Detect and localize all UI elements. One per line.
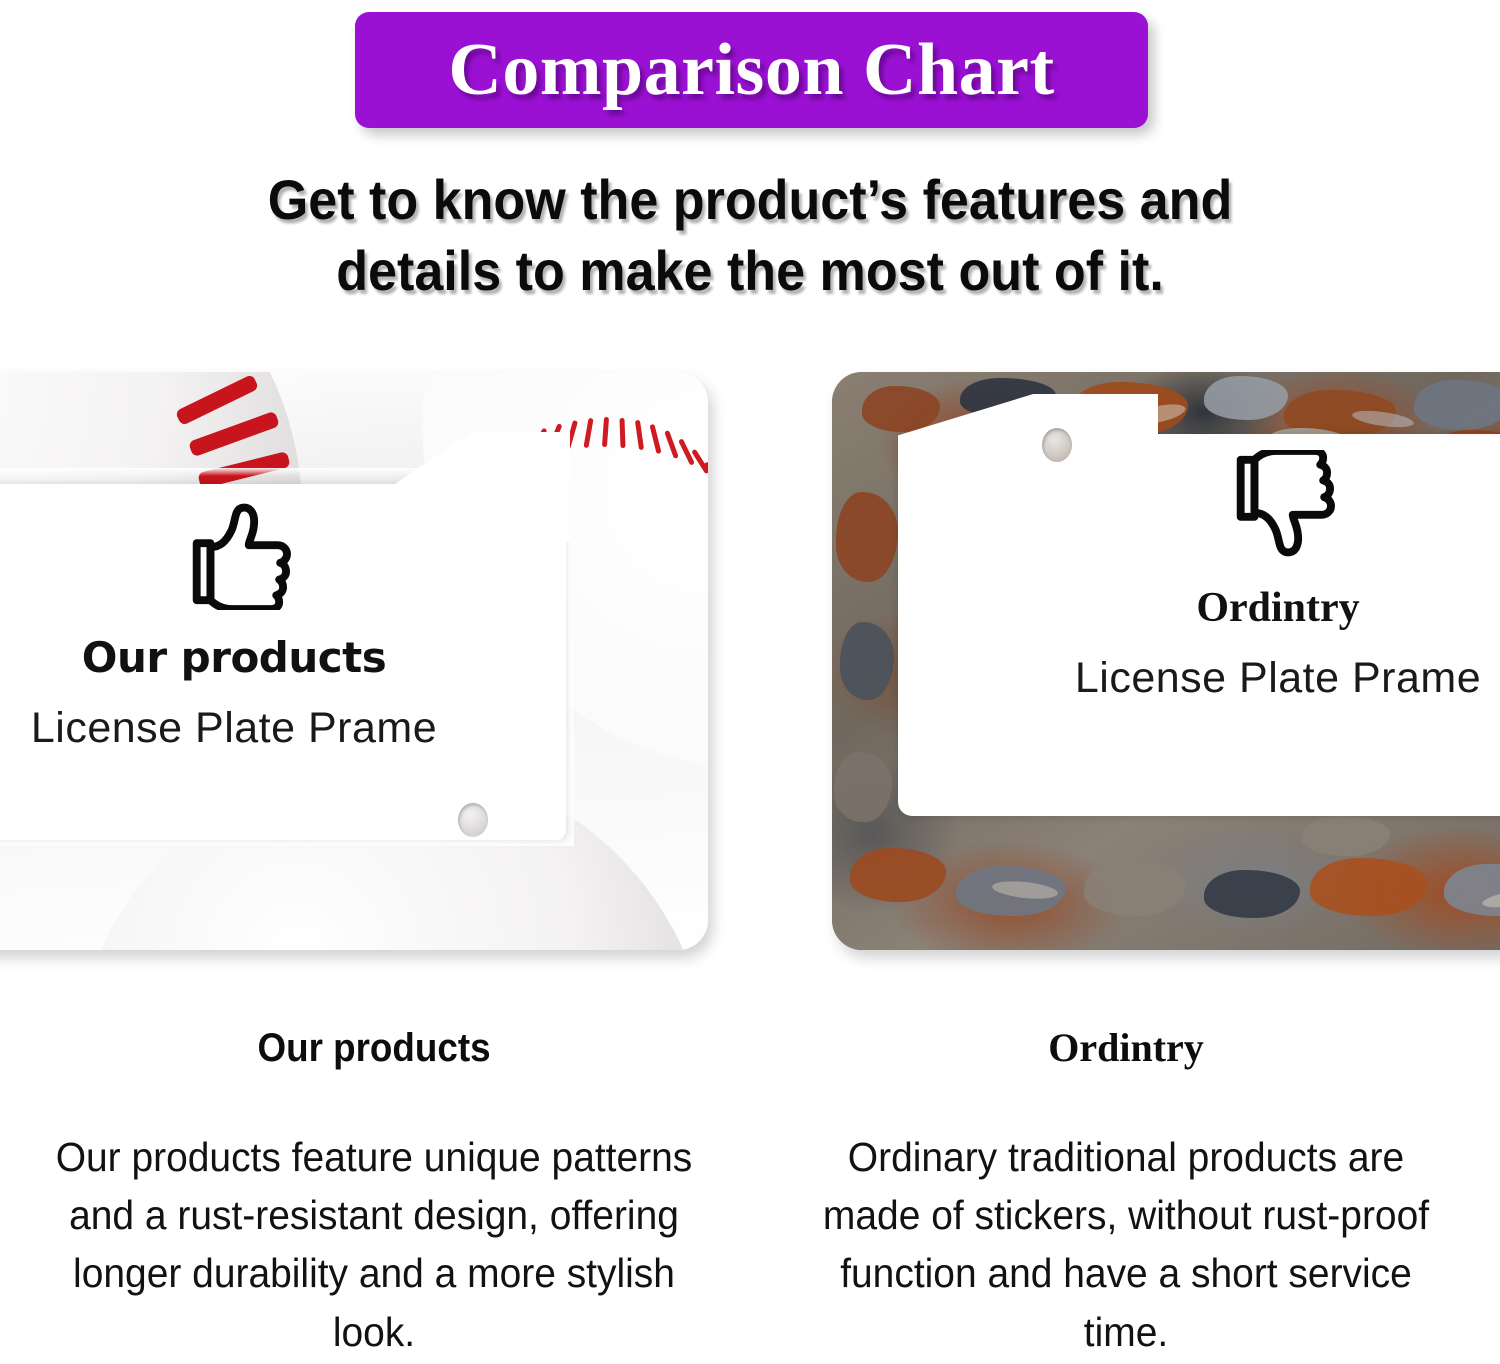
rust-patch [1204,376,1288,420]
panel-heading-ours: Our products [0,637,566,679]
description-body-ours: Our products feature unique patterns and… [19,1128,730,1361]
license-plate-frame-rusted: Ordintry License Plate Prame [832,372,1500,950]
rust-patch [862,386,940,432]
description-heading-ordinary: Ordintry [752,1028,1500,1068]
panel-subheading-ours: License Plate Prame [0,707,566,750]
rust-patch [1302,816,1390,856]
description-block-ordinary: Ordintry Ordinary traditional products a… [752,1028,1500,1361]
rust-patch [850,848,946,902]
comparison-chart-banner: Comparison Chart [355,12,1148,128]
panel-subheading-ordinary: License Plate Prame [898,657,1500,700]
product-panel-ours: Our products License Plate Prame [0,372,708,950]
thumbs-down-icon [898,450,1500,565]
thumbs-up-icon [0,500,566,615]
subtitle: Get to know the product’s features and d… [53,165,1448,306]
rust-patch [1084,860,1186,916]
description-block-ours: Our products Our products feature unique… [0,1028,748,1361]
subtitle-line-1: Get to know the product’s features and [53,165,1448,236]
rust-patch [834,752,892,822]
plate-window-content: Ordintry License Plate Prame [898,450,1500,700]
description-heading-ours: Our products [30,1028,718,1068]
rust-patch [840,622,894,700]
rust-patch [1204,870,1300,918]
license-plate-frame-baseball: Our products License Plate Prame [0,372,708,950]
description-body-ordinary: Ordinary traditional products are made o… [771,1128,1482,1361]
page-title: Comparison Chart [448,33,1054,107]
panel-heading-ordinary: Ordintry [898,587,1500,629]
subtitle-line-2: details to make the most out of it. [53,236,1448,307]
rust-patch [1310,858,1428,916]
rust-patch [1414,380,1500,430]
rust-patch [836,492,898,582]
product-panel-ordinary: Ordintry License Plate Prame [832,372,1500,950]
rust-patch [1444,864,1500,916]
plate-window-content: Our products License Plate Prame [0,500,566,750]
mounting-hole [458,803,488,837]
